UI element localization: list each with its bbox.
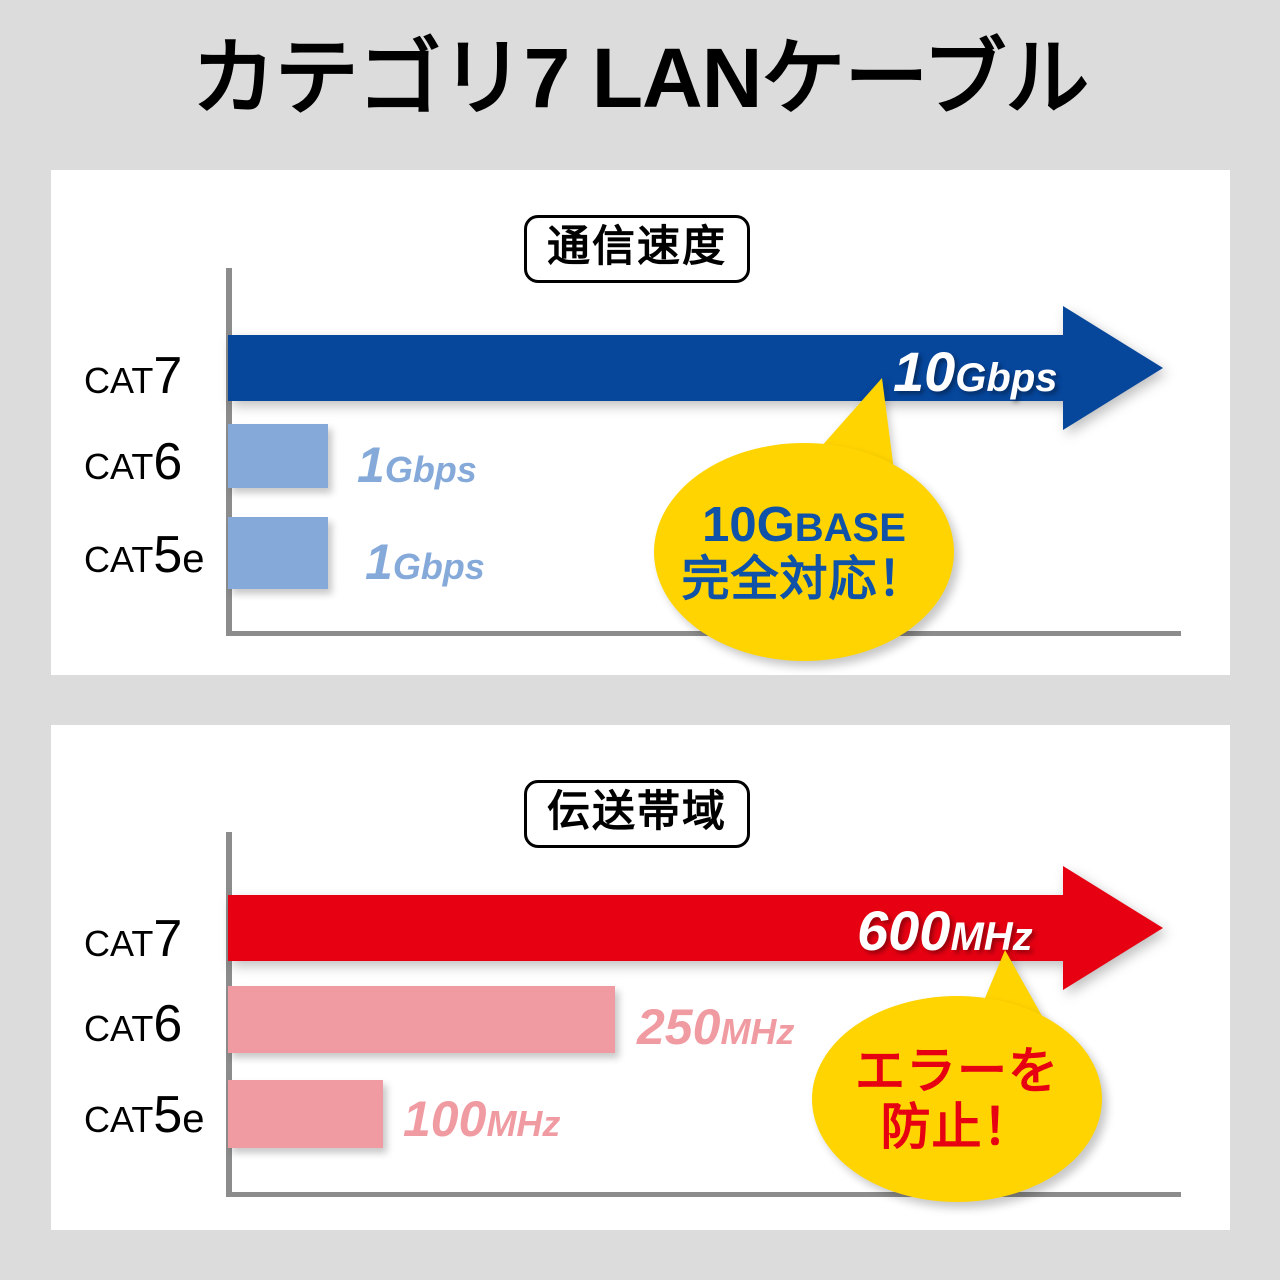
- band-bar-cat6: [228, 986, 615, 1053]
- band-value-cat7-number: 600: [857, 899, 950, 962]
- callout-error-line1: エラーを: [855, 1043, 1059, 1099]
- callout-10gbase-line1-main: 10G: [702, 498, 795, 552]
- band-value-cat5e-unit: MHz: [486, 1103, 560, 1144]
- poster-root: カテゴリ7 LANケーブル 通信速度 CAT7 CAT6 CAT5e 10Gbp…: [0, 0, 1280, 1280]
- band-cat-label-cat7: CAT7: [84, 913, 182, 965]
- speed-cat-label-cat7: CAT7: [84, 350, 182, 402]
- band-value-cat5e-number: 100: [403, 1091, 486, 1147]
- band-cat5e-prefix: CAT: [84, 1099, 153, 1140]
- speed-value-cat5e: 1Gbps: [365, 537, 485, 587]
- callout-10gbase-line1: 10GBASE: [681, 498, 926, 553]
- speed-cat6-number: 6: [153, 433, 182, 491]
- speed-value-cat5e-unit: Gbps: [393, 546, 485, 587]
- band-cat-label-cat5e: CAT5e: [84, 1089, 205, 1141]
- speed-cat-label-cat6: CAT6: [84, 436, 182, 488]
- speed-cat5e-prefix: CAT: [84, 539, 153, 580]
- speed-cat7-number: 7: [153, 347, 182, 405]
- speed-value-cat6-unit: Gbps: [385, 449, 477, 490]
- speed-cat5e-number: 5: [153, 526, 182, 584]
- band-value-cat6-unit: MHz: [720, 1011, 794, 1052]
- callout-10gbase-line2: 完全対応！: [681, 553, 926, 607]
- section-badge-band: 伝送帯域: [524, 780, 750, 848]
- callout-error-line2: 防止！: [855, 1099, 1059, 1155]
- section-badge-speed: 通信速度: [524, 215, 750, 283]
- band-cat5e-number: 5: [153, 1086, 182, 1144]
- speed-cat-label-cat5e: CAT5e: [84, 529, 205, 581]
- speed-cat7-prefix: CAT: [84, 360, 153, 401]
- speed-cat5e-suffix: e: [182, 537, 204, 581]
- band-value-cat6: 250MHz: [637, 1002, 794, 1052]
- callout-error-text: エラーを 防止！: [855, 1043, 1059, 1155]
- speed-value-cat6: 1Gbps: [357, 440, 477, 490]
- speed-value-cat6-number: 1: [357, 437, 385, 493]
- band-cat7-prefix: CAT: [84, 923, 153, 964]
- band-cat5e-suffix: e: [182, 1097, 204, 1141]
- band-bar-cat5e: [228, 1080, 383, 1148]
- speed-value-cat7-number: 10: [893, 340, 955, 403]
- callout-10gbase-line1-small: BASE: [795, 506, 906, 550]
- speed-bar-cat6: [228, 424, 328, 488]
- band-cat7-number: 7: [153, 910, 182, 968]
- callout-10gbase-bubble: 10GBASE 完全対応！: [654, 443, 954, 661]
- band-cat6-prefix: CAT: [84, 1008, 153, 1049]
- speed-value-cat7-unit: Gbps: [955, 356, 1057, 400]
- page-title: カテゴリ7 LANケーブル: [0, 36, 1280, 120]
- band-value-cat6-number: 250: [637, 999, 720, 1055]
- band-cat-label-cat6: CAT6: [84, 998, 182, 1050]
- band-cat6-number: 6: [153, 995, 182, 1053]
- band-axis-horizontal: [226, 1192, 1181, 1197]
- band-value-cat5e: 100MHz: [403, 1094, 560, 1144]
- callout-error-bubble: エラーを 防止！: [812, 996, 1102, 1202]
- speed-bar-cat5e: [228, 517, 328, 589]
- speed-value-cat7: 10Gbps: [893, 344, 1058, 400]
- callout-10gbase-text: 10GBASE 完全対応！: [681, 498, 926, 607]
- speed-cat6-prefix: CAT: [84, 446, 153, 487]
- speed-value-cat5e-number: 1: [365, 534, 393, 590]
